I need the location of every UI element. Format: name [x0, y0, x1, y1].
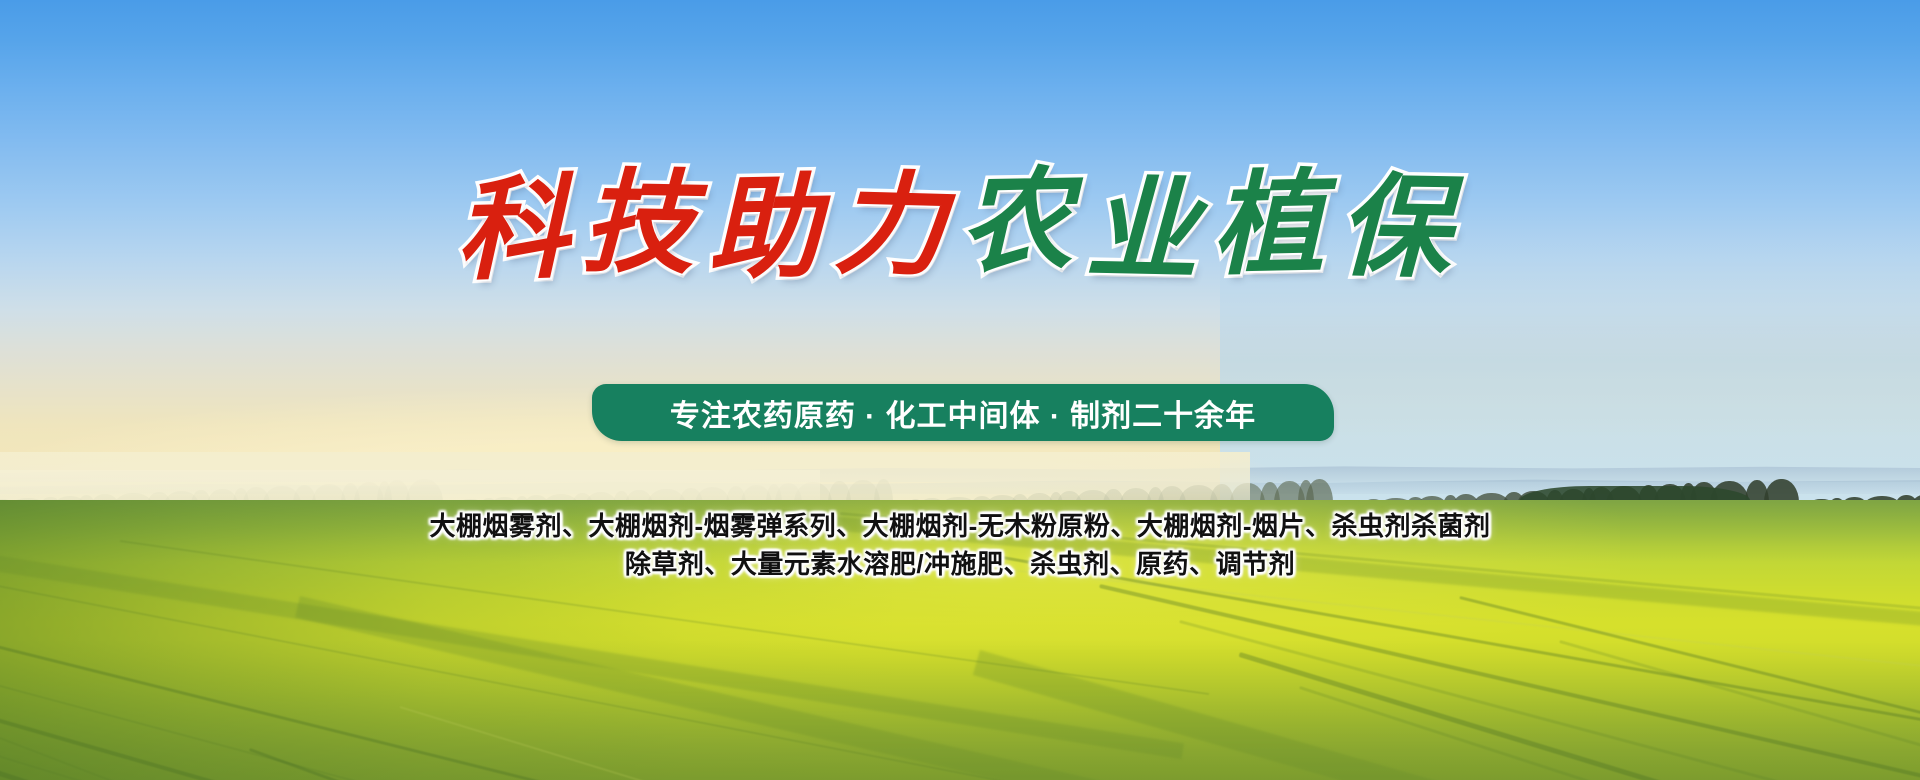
product-line-2: 除草剂、大量元素水溶肥/冲施肥、杀虫剂、原药、调节剂	[0, 544, 1920, 581]
headline-char-4: 力	[833, 168, 962, 283]
headline-char-5: 农	[959, 165, 1087, 279]
product-line-1: 大棚烟雾剂、大棚烟剂-烟雾弹系列、大棚烟剂-无木粉原粉、大棚烟剂-烟片、杀虫剂杀…	[0, 506, 1920, 543]
slogan-pill: 专注农药原药 · 化工中间体 · 制剂二十余年	[592, 384, 1334, 441]
headline-char-3: 助	[707, 172, 835, 286]
headline: 科技助力农业植保	[0, 172, 1920, 284]
headline-char-2: 技	[581, 167, 709, 281]
headline-char-1: 科	[455, 172, 584, 287]
headline-char-6: 业	[1085, 174, 1213, 289]
headline-text: 科技助力农业植保	[456, 172, 1464, 284]
field-boundary	[295, 596, 1664, 780]
hero-banner: 科技助力农业植保 专注农药原药 · 化工中间体 · 制剂二十余年 大棚烟雾剂、大…	[0, 0, 1920, 780]
slogan-text: 专注农药原药 · 化工中间体 · 制剂二十余年	[670, 391, 1256, 435]
headline-char-7: 植	[1211, 168, 1339, 283]
headline-char-8: 保	[1337, 171, 1465, 285]
